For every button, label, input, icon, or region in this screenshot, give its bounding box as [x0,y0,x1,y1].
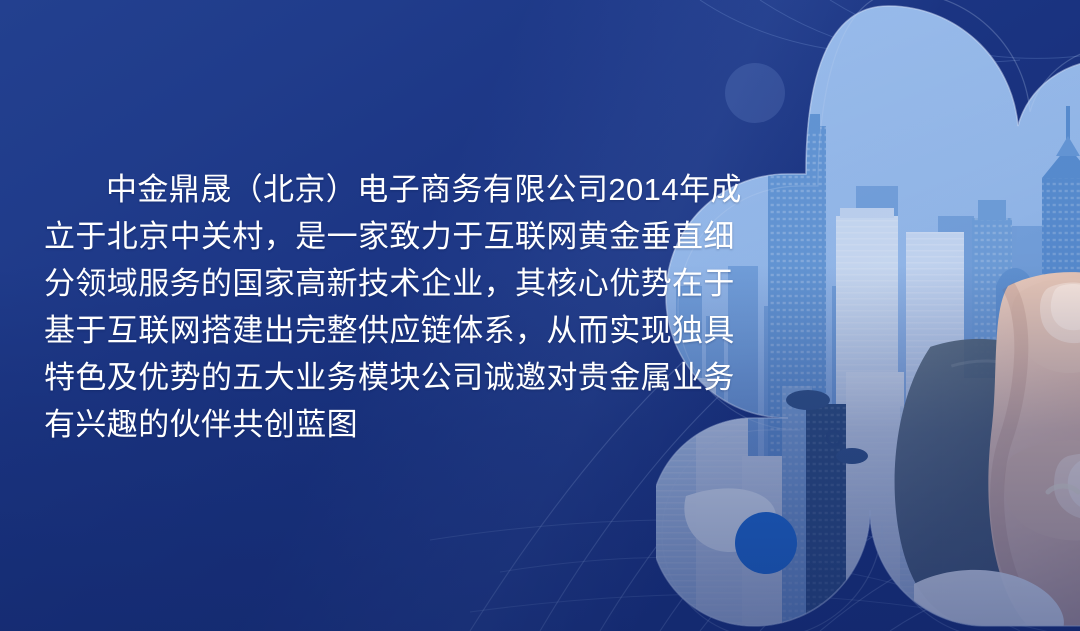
paragraph-line-3: 分领域服务的国家高新技术企业，其核心优势在于 [44,260,644,307]
paragraph-line-5: 特色及优势的五大业务模块公司诚邀对贵金属业务 [44,354,644,401]
promo-banner: 中金鼎晟（北京）电子商务有限公司2014年成 立于北京中关村，是一家致力于互联网… [0,0,1080,631]
paragraph-line-2: 立于北京中关村，是一家致力于互联网黄金垂直细 [44,213,644,260]
paragraph-line-6: 有兴趣的伙伴共创蓝图 [44,401,644,448]
accent-circle-decoration [735,512,797,574]
company-description: 中金鼎晟（北京）电子商务有限公司2014年成 立于北京中关村，是一家致力于互联网… [44,166,644,448]
paragraph-line-1: 中金鼎晟（北京）电子商务有限公司2014年成 [44,166,644,213]
paragraph-line-4: 基于互联网搭建出完整供应链体系，从而实现独具 [44,307,644,354]
